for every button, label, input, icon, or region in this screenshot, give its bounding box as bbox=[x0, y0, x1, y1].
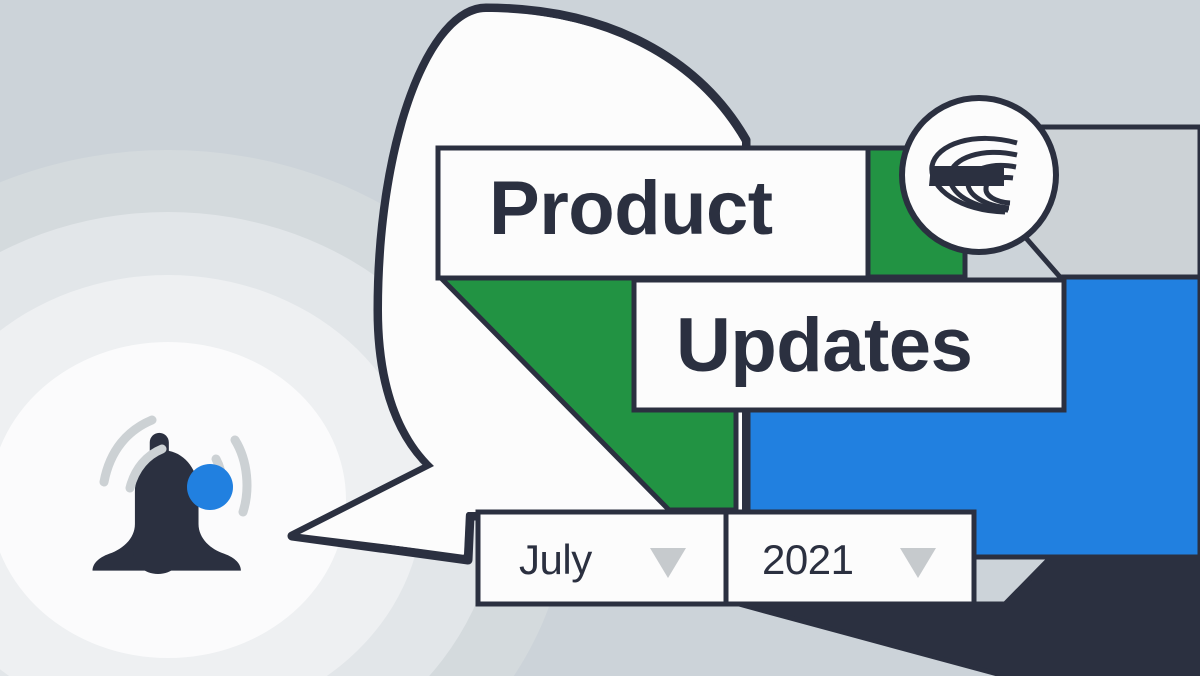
page-title-line-2: Updates bbox=[676, 303, 972, 389]
brand-logo-button[interactable] bbox=[902, 98, 1056, 252]
month-filter-dropdown[interactable] bbox=[478, 512, 726, 604]
product-updates-banner: Product Updates July 2021 bbox=[0, 0, 1200, 676]
year-filter-dropdown[interactable] bbox=[726, 512, 974, 604]
page-title-line-1: Product bbox=[489, 166, 773, 252]
notification-bell-button[interactable] bbox=[88, 420, 263, 600]
